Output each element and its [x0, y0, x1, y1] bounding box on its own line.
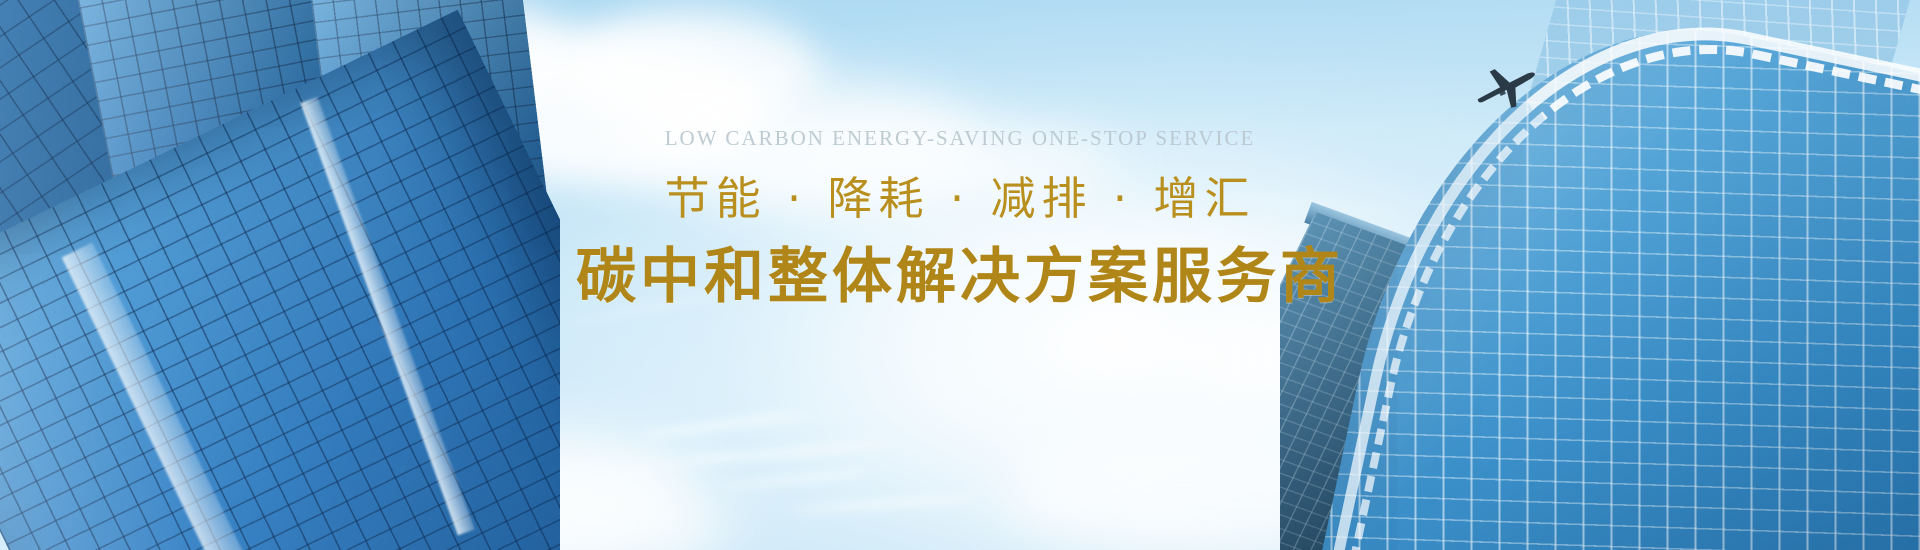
airplane-icon [1470, 58, 1544, 114]
hero-banner: LOW CARBON ENERGY-SAVING ONE-STOP SERVIC… [0, 0, 1920, 550]
banner-text-block: LOW CARBON ENERGY-SAVING ONE-STOP SERVIC… [0, 128, 1920, 310]
banner-eyebrow-text: LOW CARBON ENERGY-SAVING ONE-STOP SERVIC… [0, 128, 1920, 149]
banner-subheadline: 节能 · 降耗 · 减排 · 增汇 [0, 175, 1920, 224]
banner-headline: 碳中和整体解决方案服务商 [0, 244, 1920, 310]
